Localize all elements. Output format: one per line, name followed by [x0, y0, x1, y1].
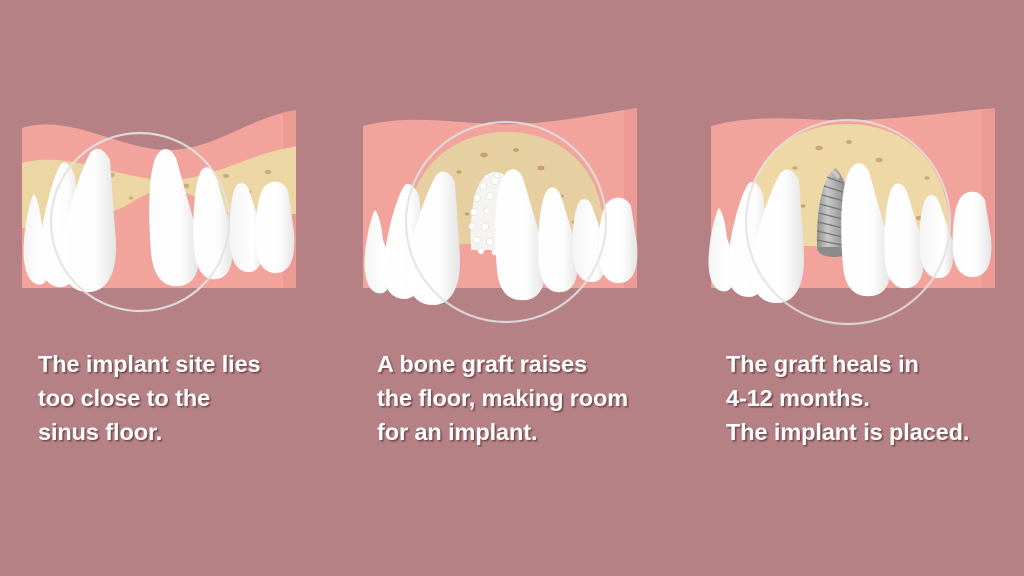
- panel-implant-placed: The graft heals in 4-12 months. The impl…: [683, 0, 1024, 576]
- panel-1-caption: The implant site lies too close to the s…: [38, 347, 338, 449]
- illustration-stage: The implant site lies too close to the s…: [0, 0, 1024, 576]
- panel-2-artwork: [341, 0, 682, 330]
- panel-3-caption: The graft heals in 4-12 months. The impl…: [726, 347, 1024, 449]
- panel-deficient-bone-height: The implant site lies too close to the s…: [0, 0, 341, 576]
- panel-bone-graft-placed: A bone graft raises the floor, making ro…: [341, 0, 682, 576]
- panel-3-artwork: [683, 0, 1024, 330]
- panel-1-artwork: [0, 0, 341, 330]
- panel-2-caption: A bone graft raises the floor, making ro…: [377, 347, 697, 449]
